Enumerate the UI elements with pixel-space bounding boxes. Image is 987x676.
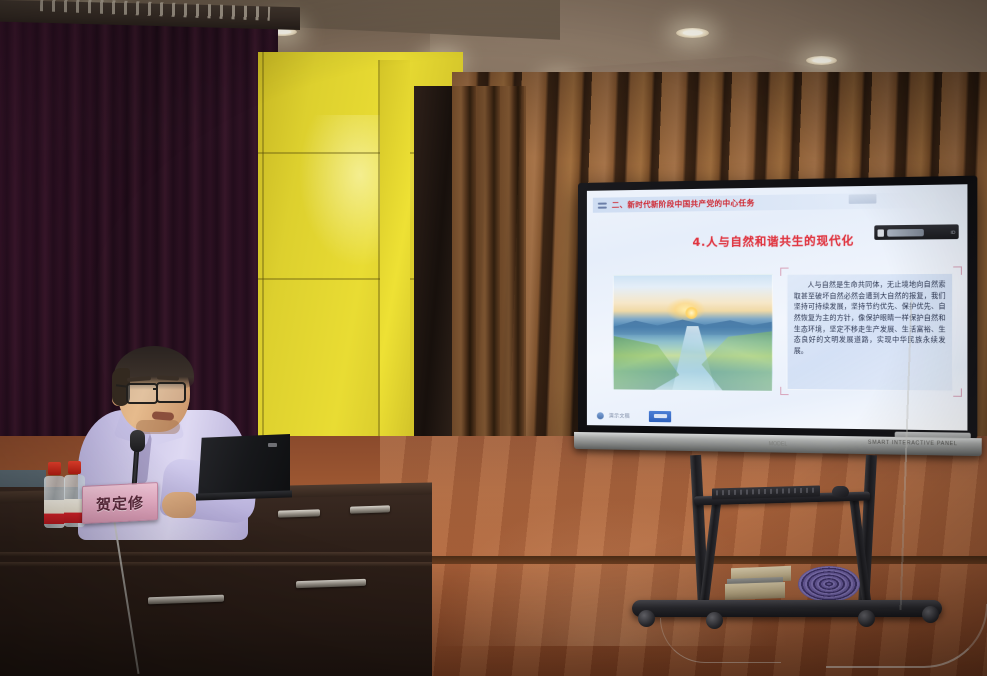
name-placard-text: 贺定修 — [96, 491, 144, 515]
laptop-logo-icon — [268, 443, 277, 447]
bottle-cap — [68, 461, 81, 474]
textbox-corner-bottom-right — [953, 388, 962, 396]
photo-hills-left — [613, 335, 680, 392]
presenter-hand — [162, 492, 196, 518]
podium-handle-4[interactable] — [350, 505, 390, 513]
glasses-lens-left — [126, 383, 158, 404]
footer-label: 演示文稿 — [609, 412, 630, 419]
slide-watermark-badge: ID — [874, 224, 958, 240]
lecture-hall-photo: 二、新时代新阶段中国共产党的中心任务 4.人与自然和谐共生的现代化 ID — [0, 0, 987, 676]
smart-board-display[interactable]: 二、新时代新阶段中国共产党的中心任务 4.人与自然和谐共生的现代化 ID — [578, 176, 977, 463]
water-bottle-1 — [44, 462, 65, 528]
textbox-corner-top-right — [953, 266, 962, 274]
presenter-mouth — [152, 411, 175, 421]
podium-band-2 — [0, 562, 432, 567]
photo-sun — [686, 306, 698, 318]
slide-body-text: 人与自然是生命共同体，无止境地向自然索取甚至破坏自然必然会遭到大自然的报复，我们… — [794, 279, 946, 357]
ceiling-light-6 — [806, 56, 837, 65]
footer-app-icon — [597, 412, 604, 419]
display-model-text: MODEL — [769, 441, 788, 447]
coiled-cable — [798, 566, 860, 602]
slide-text-panel: 人与自然是生命共同体，无止境地向自然索取甚至破坏自然必然会遭到大自然的报复，我们… — [786, 273, 953, 392]
slide-header-title: 二、新时代新阶段中国共产党的中心任务 — [612, 197, 755, 210]
slide-landscape-photo — [613, 274, 773, 392]
badge-label: ID — [951, 229, 956, 234]
footer-taskbar-chip[interactable] — [649, 411, 671, 422]
slide-header-button[interactable] — [849, 194, 877, 204]
badge-app-icon — [878, 229, 884, 236]
caster-wheel-1 — [638, 610, 655, 627]
glasses-bridge — [153, 388, 158, 390]
cardboard-box-lower — [725, 582, 785, 600]
badge-pill — [887, 228, 924, 236]
slide-header-marker-icon — [598, 201, 607, 210]
name-placard: 贺定修 — [82, 482, 158, 524]
podium-band-1 — [0, 552, 432, 557]
slide-header-bar: 二、新时代新阶段中国共产党的中心任务 — [593, 192, 936, 213]
bottle-cap — [48, 462, 61, 475]
glasses-lens-right — [156, 382, 186, 403]
slide-footer: 演示文稿 — [597, 412, 630, 419]
podium-handle-3[interactable] — [278, 509, 320, 517]
microphone-capsule — [130, 430, 145, 452]
ceiling-light-5 — [676, 28, 709, 38]
bottle-label — [44, 500, 65, 524]
mouse[interactable] — [832, 486, 849, 497]
